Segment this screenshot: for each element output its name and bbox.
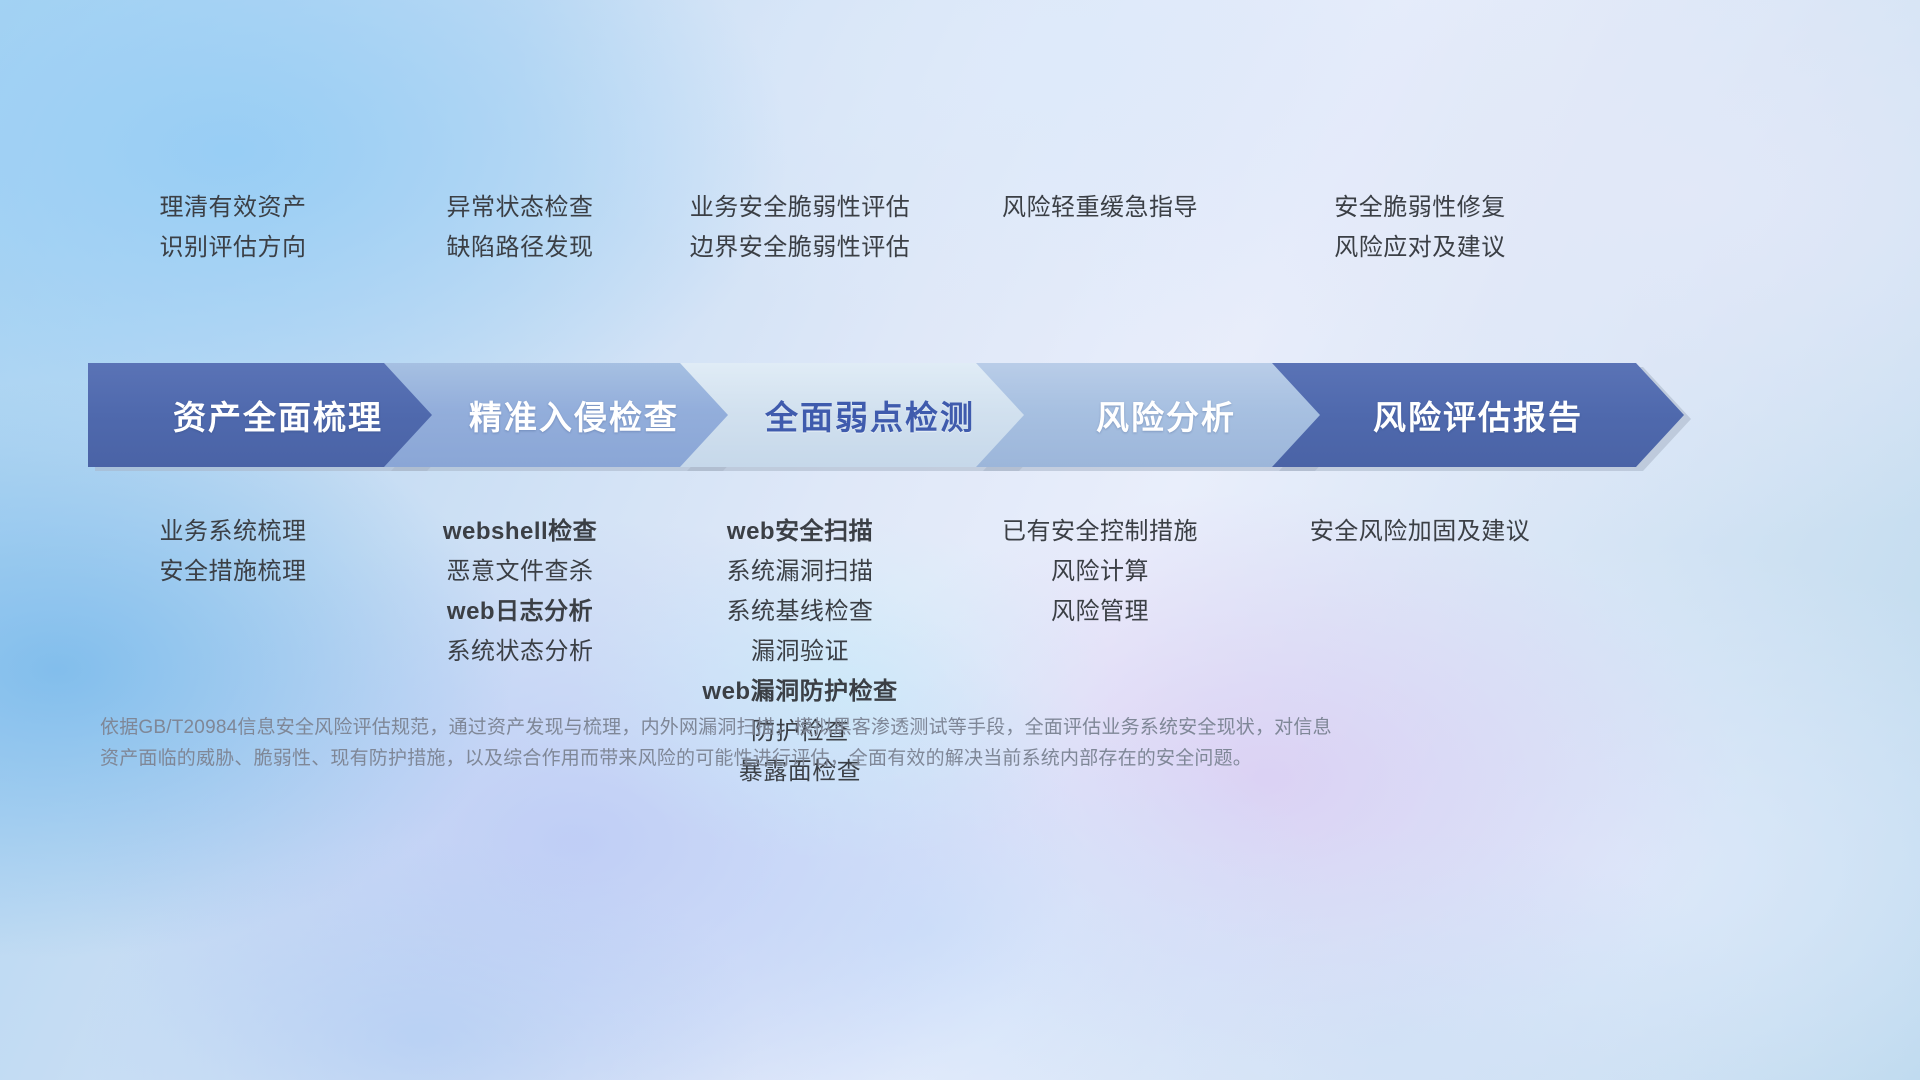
chevron-label: 全面弱点检测: [765, 391, 975, 439]
process-chevron-band: 资产全面梳理 精准入侵检查: [88, 363, 1832, 467]
bottom-labels-stage-4: 已有安全控制措施 风险计算 风险管理: [935, 512, 1265, 632]
top-label: 识别评估方向: [88, 228, 378, 268]
top-labels-stage-4: 风险轻重缓急指导: [940, 188, 1260, 228]
bottom-label: 系统状态分析: [375, 632, 665, 672]
top-labels-stage-1: 理清有效资产 识别评估方向: [88, 188, 378, 268]
bottom-label: web漏洞防护检查: [640, 672, 960, 712]
bottom-label: 安全措施梳理: [88, 552, 378, 592]
bottom-label: 系统漏洞扫描: [640, 552, 960, 592]
chevron-stage-5[interactable]: 风险评估报告: [1272, 363, 1684, 467]
top-label: 安全脆弱性修复: [1250, 188, 1590, 228]
bottom-label: 安全风险加固及建议: [1245, 512, 1595, 552]
chevron-label: 精准入侵检查: [469, 391, 679, 439]
top-label: 风险应对及建议: [1250, 228, 1590, 268]
bottom-labels-stage-5: 安全风险加固及建议: [1245, 512, 1595, 552]
bottom-label: 风险管理: [935, 592, 1265, 632]
bottom-label: web安全扫描: [640, 512, 960, 552]
bottom-label: 业务系统梳理: [88, 512, 378, 552]
bottom-label: 风险计算: [935, 552, 1265, 592]
top-labels-stage-3: 业务安全脆弱性评估 边界安全脆弱性评估: [620, 188, 980, 268]
footer-line: 资产面临的威胁、脆弱性、现有防护措施，以及综合作用而带来风险的可能性进行评估，全…: [100, 743, 1660, 774]
bottom-label: 恶意文件查杀: [375, 552, 665, 592]
top-label: 边界安全脆弱性评估: [620, 228, 980, 268]
bottom-label: 已有安全控制措施: [935, 512, 1265, 552]
top-label: 理清有效资产: [88, 188, 378, 228]
bottom-labels-stage-1: 业务系统梳理 安全措施梳理: [88, 512, 378, 592]
bottom-label: 系统基线检查: [640, 592, 960, 632]
footer-line: 依据GB/T20984信息安全风险评估规范，通过资产发现与梳理，内外网漏洞扫描，…: [100, 712, 1660, 743]
footer-description: 依据GB/T20984信息安全风险评估规范，通过资产发现与梳理，内外网漏洞扫描，…: [100, 712, 1660, 774]
bottom-labels-stage-2: webshell检查 恶意文件查杀 web日志分析 系统状态分析: [375, 512, 665, 672]
top-label: 业务安全脆弱性评估: [620, 188, 980, 228]
bottom-label: web日志分析: [375, 592, 665, 632]
bottom-label: webshell检查: [375, 512, 665, 552]
chevron-label: 风险分析: [1096, 391, 1236, 439]
top-labels-stage-5: 安全脆弱性修复 风险应对及建议: [1250, 188, 1590, 268]
bottom-label: 漏洞验证: [640, 632, 960, 672]
diagram-stage: 理清有效资产 识别评估方向 异常状态检查 缺陷路径发现 业务安全脆弱性评估 边界…: [0, 0, 1920, 1080]
chevron-label: 风险评估报告: [1373, 391, 1583, 439]
top-label: 风险轻重缓急指导: [940, 188, 1260, 228]
chevron-label: 资产全面梳理: [173, 391, 383, 439]
